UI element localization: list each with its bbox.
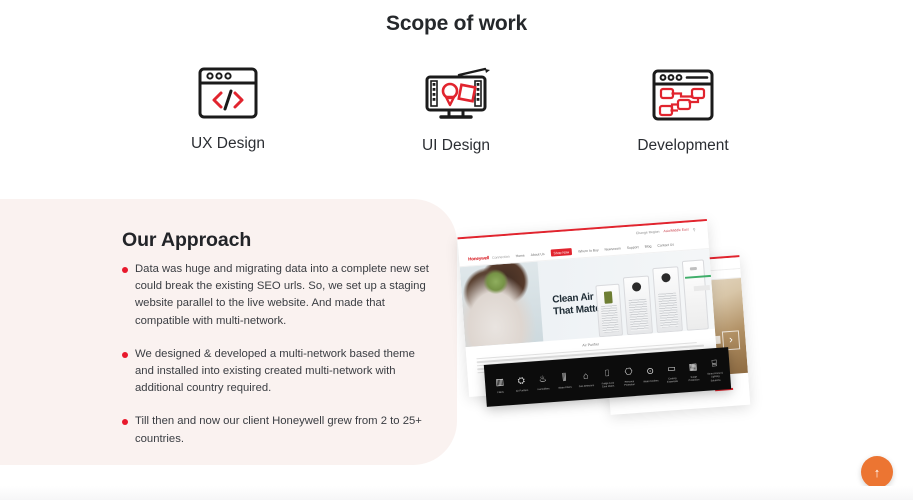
category-item: ▭Cooling Essentials [663, 361, 681, 385]
page-title: Scope of work [0, 12, 913, 36]
category-label: Humidifiers [535, 388, 551, 392]
category-item: ⫼Water Filters [556, 370, 573, 390]
category-item: ⛭Air Purifiers [513, 373, 530, 393]
category-label: Filters [493, 391, 509, 395]
page-bottom-band [0, 486, 913, 500]
project-mockup-image: › Change Region Asia/Middle East ⚲ Honey… [455, 228, 755, 434]
nav-item-where-to-buy: Where to Buy [578, 248, 599, 253]
nav-item-blog: Blog [644, 244, 651, 248]
category-label: Water Filters [557, 386, 573, 390]
category-label: Personal Protection [621, 380, 637, 388]
bullet-dot-icon [122, 419, 128, 425]
service-label-ux-design: UX Design [148, 135, 308, 153]
product-grill [629, 299, 648, 330]
scroll-to-top-button[interactable]: ↑ [861, 456, 893, 488]
humidifiers-icon: ♨ [534, 372, 551, 387]
service-item-ux-design[interactable]: UX Design [148, 62, 308, 153]
nav-item-shop-now: Shop Now [550, 248, 572, 257]
bullet-text: We designed & developed a multi-network … [135, 346, 434, 398]
product-grill [659, 293, 679, 328]
approach-bullet-list: Data was huge and migrating data into a … [122, 261, 434, 464]
smart-home-lighting-icon: ⌸ [706, 356, 723, 371]
nav-item-support: Support [627, 245, 639, 250]
code-window-icon [148, 62, 308, 124]
approach-title: Our Approach [122, 229, 251, 252]
category-label: Fridge & Air Care Filters [600, 381, 616, 389]
air-purifiers-icon: ⛭ [513, 373, 530, 388]
category-item: ▥Filters [491, 375, 508, 395]
service-item-development[interactable]: Development [600, 64, 766, 155]
product-purifier [623, 275, 653, 335]
personal-protection-icon: ⎔ [620, 364, 637, 379]
product-purifier [682, 259, 709, 330]
product-display [632, 282, 642, 292]
flowchart-window-icon [600, 64, 766, 126]
list-item: Data was huge and migrating data into a … [122, 261, 434, 330]
cooling-essentials-icon: ▭ [663, 361, 680, 376]
brand-subtitle: Connection [492, 254, 510, 259]
service-label-development: Development [600, 137, 766, 155]
bullet-text: Data was huge and migrating data into a … [135, 261, 434, 330]
product-grill [601, 305, 619, 333]
services-row: UX Design [0, 62, 913, 172]
hero-tag-label [694, 285, 710, 291]
category-item: ♨Humidifiers [534, 372, 551, 392]
product-purifier [595, 284, 623, 338]
search-icon: ⚲ [692, 226, 695, 231]
category-item: ⌷Fridge & Air Care Filters [599, 365, 617, 389]
category-label: Surge Protection [686, 375, 702, 383]
water-coolers-icon: ⊙ [642, 364, 659, 379]
category-label: Smart Home & Lighting Solutions [707, 372, 724, 383]
nav-item-about-us: About Us [530, 252, 544, 257]
product-display [604, 291, 613, 304]
service-item-ui-design[interactable]: UI Design [376, 64, 536, 155]
region-label: Change Region [636, 230, 660, 236]
surge-protection-icon: ▦ [685, 359, 702, 374]
list-item: Till then and now our client Honeywell g… [122, 413, 434, 447]
category-item: ⌸Smart Home & Lighting Solutions [706, 356, 724, 383]
category-label: Cooling Essentials [664, 376, 680, 384]
page-root: Scope of work UX Design [0, 0, 913, 500]
nav-item-newsroom: Newsroom [604, 246, 620, 251]
product-display [661, 273, 671, 283]
category-item: ⎔Personal Protection [620, 364, 638, 388]
water-filters-icon: ⫼ [556, 370, 573, 385]
list-item: We designed & developed a multi-network … [122, 346, 434, 398]
design-monitor-icon [376, 64, 536, 126]
category-item: ⌂Gas Detectors [577, 368, 594, 388]
gas-detectors-icon: ⌂ [577, 368, 594, 383]
category-label: Air Purifiers [514, 389, 530, 393]
category-item: ▦Surge Protection [685, 359, 703, 383]
honeywell-logo: Honeywell [468, 255, 489, 262]
bullet-text: Till then and now our client Honeywell g… [135, 413, 434, 447]
product-display [690, 267, 697, 271]
bullet-dot-icon [122, 267, 128, 273]
product-purifier [652, 266, 683, 333]
filters-icon: ▥ [491, 375, 508, 390]
nav-item-home: Home [515, 253, 524, 258]
nav-item-contact-us: Contact Us [657, 242, 674, 247]
region-value: Asia/Middle East [663, 227, 688, 233]
bullet-dot-icon [122, 352, 128, 358]
plant-graphic [482, 268, 510, 296]
category-label: Gas Detectors [578, 384, 594, 388]
air-purifier-products [592, 257, 709, 337]
category-label: Water Coolers [643, 380, 659, 384]
arrow-up-icon: ↑ [874, 466, 881, 479]
category-item: ⊙Water Coolers [642, 364, 659, 384]
fridge-air-care-icon: ⌷ [599, 365, 616, 380]
service-label-ui-design: UI Design [376, 137, 536, 155]
